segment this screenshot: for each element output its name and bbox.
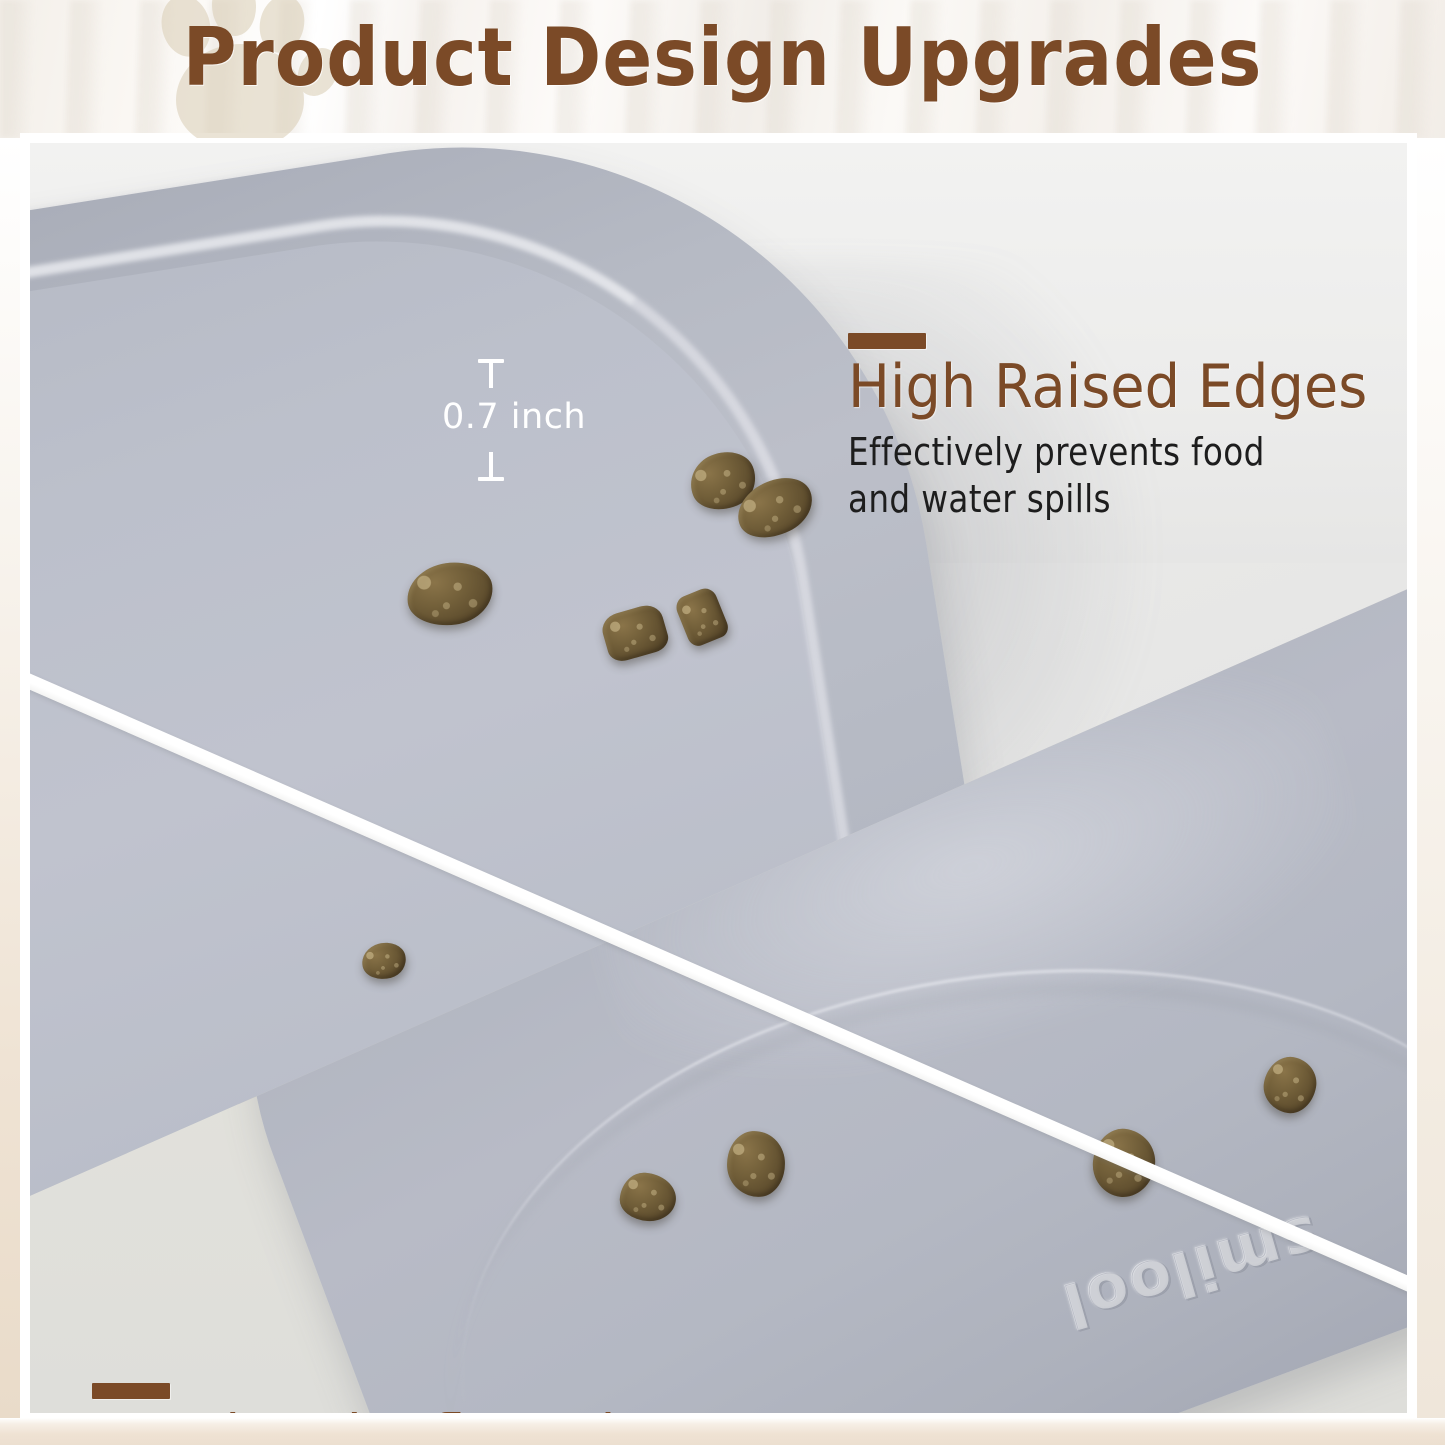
- product-photo-composite: 0.7 inch smilool: [30, 143, 1407, 1413]
- measure-cap-bottom-icon: [478, 477, 504, 481]
- measure-stem-top-icon: [489, 362, 493, 388]
- page-title: Product Design Upgrades: [58, 18, 1387, 98]
- measure-stem-bottom-icon: [489, 452, 493, 478]
- feature-keeping-floor-clean: Keeping the floor clean Minimizes time s…: [92, 1383, 1292, 1413]
- height-measure-annotation: 0.7 inch: [442, 359, 592, 481]
- product-infographic: Product Design Upgrades 0.7 inch: [0, 0, 1445, 1445]
- feature-body-line1: Effectively prevents food: [848, 430, 1265, 474]
- header-band: Product Design Upgrades: [0, 0, 1445, 138]
- feature-heading: Keeping the floor clean: [92, 1407, 1208, 1413]
- left-margin-strip: [0, 138, 25, 1418]
- photo-frame: 0.7 inch smilool: [25, 138, 1412, 1418]
- accent-dash-icon: [848, 333, 926, 349]
- footer-strip: [0, 1418, 1445, 1445]
- feature-heading: High Raised Edges: [848, 357, 1406, 419]
- measure-label: 0.7 inch: [442, 395, 592, 439]
- accent-dash-icon: [92, 1383, 170, 1399]
- feature-body: Effectively prevents foodand water spill…: [848, 429, 1364, 523]
- feature-high-raised-edges: High Raised Edges Effectively prevents f…: [848, 333, 1407, 523]
- feature-body-line2: and water spills: [848, 477, 1111, 521]
- right-margin-strip: [1412, 138, 1445, 1418]
